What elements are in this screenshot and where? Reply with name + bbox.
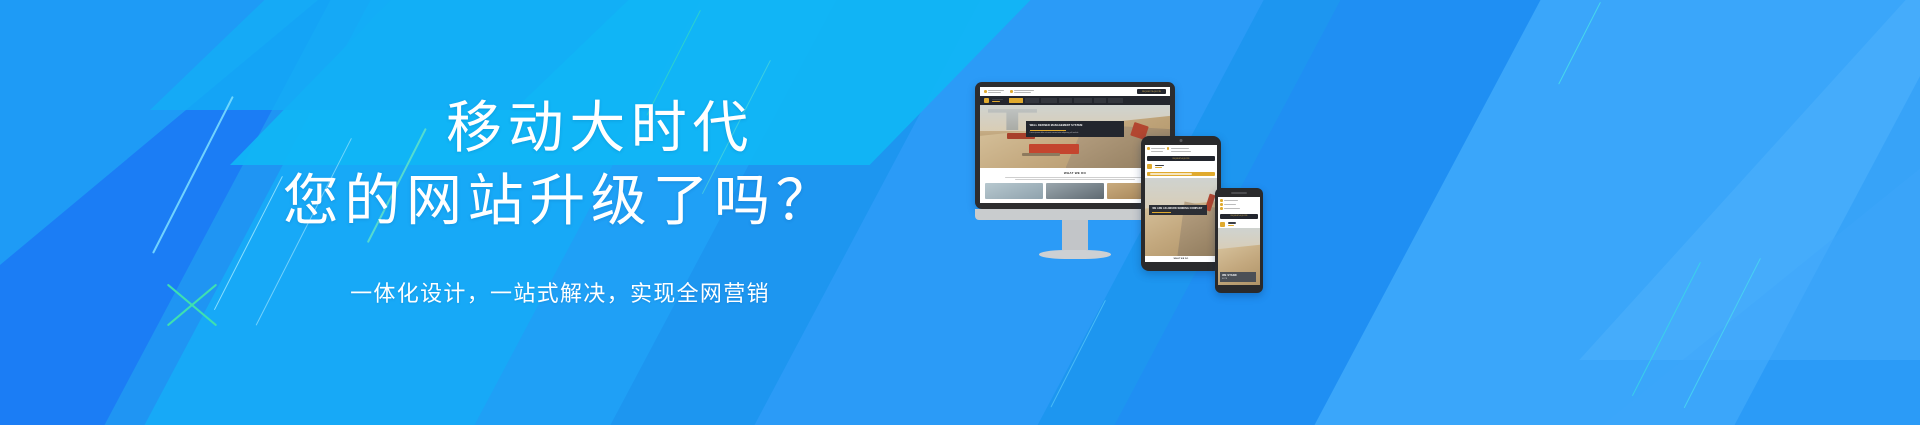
phone-website-preview: REQUEST A QUOTE WE <box>1218 197 1260 285</box>
phone-icon <box>984 90 987 93</box>
hero-title: WE ARE AN AWARD-WINNING COMPANY <box>1152 207 1204 211</box>
hero-caption: WE STAND ELITE <box>1220 272 1256 282</box>
site-hero: WE STAND ELITE <box>1218 228 1260 286</box>
hours-info <box>1010 90 1034 93</box>
site-logo-text <box>992 99 1003 103</box>
hero-subtitle: ELITE <box>1222 278 1254 280</box>
site-nav <box>1218 221 1260 228</box>
request-quote-button[interactable]: REQUEST A QUOTE <box>1147 156 1215 161</box>
tablet-bezel: REQUEST A QUOTE <box>1141 136 1221 271</box>
service-card[interactable] <box>985 183 1043 199</box>
site-logo-icon <box>1147 164 1152 169</box>
site-nav <box>980 96 1170 105</box>
nav-item-pages[interactable] <box>1074 98 1092 103</box>
banner-subtitle: 一体化设计，一站式解决，实现全网营销 <box>350 276 770 308</box>
hero-banner: 移动大时代 您的网站升级了吗？ 一体化设计，一站式解决，实现全网营销 <box>0 0 1920 425</box>
phone-screen: REQUEST A QUOTE WE <box>1218 197 1260 285</box>
what-we-do-title: WHAT WE DO <box>1147 258 1215 260</box>
headline-line-1: 移动大时代 <box>366 95 754 161</box>
mobile-menu-bar[interactable] <box>1147 172 1215 176</box>
request-quote-button[interactable]: REQUEST A QUOTE <box>1137 89 1166 94</box>
nav-item-contact[interactable] <box>1108 98 1123 103</box>
service-card-row <box>985 183 1165 199</box>
hero-subtitle: Lorem ipsum dolor sit amet consectetur a… <box>1030 132 1121 135</box>
phone-icon <box>1147 147 1150 150</box>
what-we-do-title: WHAT WE DO <box>985 171 1165 175</box>
nav-item-blog[interactable] <box>1094 98 1106 103</box>
site-topbar <box>1218 197 1260 212</box>
what-we-do-section: WHAT WE DO <box>1145 256 1217 262</box>
site-topbar <box>1145 145 1217 154</box>
nav-item-services[interactable] <box>1041 98 1057 103</box>
mail-icon <box>1220 203 1223 206</box>
bulldozer-graphic <box>1029 144 1078 154</box>
phone-device: REQUEST A QUOTE WE <box>1215 188 1263 293</box>
speaker-icon <box>1231 192 1247 194</box>
tablet-device: REQUEST A QUOTE <box>1141 136 1221 271</box>
tablet-screen: REQUEST A QUOTE <box>1145 145 1217 262</box>
site-logo-text <box>1155 165 1164 169</box>
device-mockup-group: REQUEST A QUOTE <box>955 70 1295 370</box>
site-topbar: REQUEST A QUOTE <box>980 87 1170 96</box>
phone-icon <box>1220 199 1223 202</box>
camera-icon <box>1180 139 1183 142</box>
nav-item-about[interactable] <box>1025 98 1039 103</box>
nav-item-home[interactable] <box>1009 98 1023 103</box>
headline-line-2: 您的网站升级了吗？ <box>283 168 837 234</box>
nav-items <box>1009 98 1123 103</box>
hero-title: WE STAND <box>1222 274 1254 277</box>
tablet-website-preview: REQUEST A QUOTE <box>1145 145 1217 262</box>
site-nav <box>1145 163 1217 170</box>
hero-caption: WELL DEFINED MANAGEMENT SYSTEM Lorem ips… <box>1026 121 1125 137</box>
what-we-do-body <box>985 177 1165 180</box>
banner-copy: 移动大时代 您的网站升级了吗？ 一体化设计，一站式解决，实现全网营销 <box>0 0 1000 425</box>
clock-icon <box>1010 90 1013 93</box>
monitor-stand-neck <box>1062 220 1088 250</box>
site-logo-icon <box>984 98 989 103</box>
hero-caption: WE ARE AN AWARD-WINNING COMPANY <box>1149 205 1207 216</box>
site-hero: WE ARE AN AWARD-WINNING COMPANY <box>1145 178 1217 256</box>
phone-bezel: REQUEST A QUOTE WE <box>1215 188 1263 293</box>
site-logo-text <box>1228 222 1236 226</box>
hero-title: WELL DEFINED MANAGEMENT SYSTEM <box>1030 124 1121 128</box>
site-logo-icon <box>1220 222 1225 227</box>
clock-icon <box>1220 207 1223 210</box>
service-card[interactable] <box>1046 183 1104 199</box>
phone-info <box>984 90 1004 93</box>
monitor-stand-base <box>1039 250 1111 259</box>
nav-item-projects[interactable] <box>1059 98 1072 103</box>
clock-icon <box>1167 147 1170 150</box>
request-quote-button[interactable]: REQUEST A QUOTE <box>1220 214 1258 219</box>
